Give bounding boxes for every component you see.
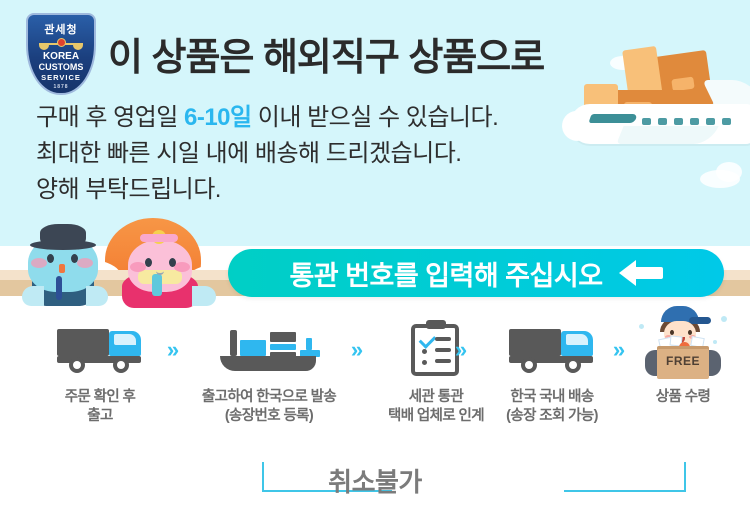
cancel-not-allowed-label: 취소불가 bbox=[0, 462, 750, 499]
shield-line-1: KOREA bbox=[22, 51, 100, 62]
step-separator-icon: » bbox=[346, 340, 368, 360]
notice-line-3: 양해 부탁드립니다. bbox=[36, 172, 636, 208]
truck-icon bbox=[478, 318, 626, 380]
shield-korean-label: 관세청 bbox=[22, 21, 100, 37]
container-ship-icon bbox=[186, 318, 352, 380]
process-step-2: 출고하여 한국으로 발송 (송장번호 등록) bbox=[186, 318, 352, 426]
step-2-label-line1: 출고하여 한국으로 발송 bbox=[186, 388, 352, 407]
delivery-person-icon: FREE bbox=[628, 318, 738, 380]
korea-customs-shield-icon: 관세청 KOREA CUSTOMS SERVICE 1878 bbox=[22, 11, 100, 99]
shield-line-2: CUSTOMS bbox=[22, 62, 100, 72]
shield-year: 1878 bbox=[22, 84, 100, 90]
step-separator-icon: » bbox=[608, 340, 630, 360]
truck-icon bbox=[36, 318, 164, 380]
notice-body-text: 구매 후 영업일 6-10일 이내 받으실 수 있습니다. 최대한 빠른 시일 … bbox=[36, 100, 636, 208]
process-step-1: 주문 확인 후 출고 bbox=[36, 318, 164, 426]
step-1-label-line1: 주문 확인 후 bbox=[36, 388, 164, 407]
step-separator-icon: » bbox=[162, 340, 184, 360]
scales-icon bbox=[39, 38, 83, 50]
notice-line-1: 구매 후 영업일 6-10일 이내 받으실 수 있습니다. bbox=[36, 100, 636, 136]
customs-number-cta-banner[interactable]: 통관 번호를 입력해 주십시오 bbox=[228, 249, 724, 297]
step-1-label-line2: 출고 bbox=[36, 407, 164, 426]
step-separator-icon: » bbox=[450, 340, 472, 360]
mascot-male-hanbok bbox=[16, 224, 112, 306]
overseas-purchase-notice-banner: 관세청 KOREA CUSTOMS SERVICE 1878 이 상품은 해외직… bbox=[0, 0, 750, 512]
step-5-label-line1: 상품 수령 bbox=[628, 388, 738, 407]
notice-line-2: 최대한 빠른 시일 내에 배송해 드리겠습니다. bbox=[36, 136, 636, 172]
footer-notice: 취소불가 bbox=[0, 460, 750, 512]
parcel-free-label: FREE bbox=[657, 354, 709, 368]
process-step-5: FREE 상품 수령 bbox=[628, 318, 738, 407]
left-arrow-icon bbox=[619, 260, 663, 286]
notice-line-1-post: 이내 받으실 수 있습니다. bbox=[252, 104, 499, 131]
step-4-label-line2: (송장 조회 가능) bbox=[478, 407, 626, 426]
shipping-process-steps: 주문 확인 후 출고 » 출고하여 한국으로 발송 (송장번호 등록) bbox=[0, 318, 750, 458]
process-step-4: 한국 국내 배송 (송장 조회 가능) bbox=[478, 318, 626, 426]
notice-line-1-pre: 구매 후 영업일 bbox=[36, 104, 184, 131]
delivery-days-highlight: 6-10일 bbox=[184, 104, 252, 131]
page-title: 이 상품은 해외직구 상품으로 bbox=[108, 26, 608, 81]
cta-label: 통관 번호를 입력해 주십시오 bbox=[289, 254, 602, 293]
step-4-label-line1: 한국 국내 배송 bbox=[478, 388, 626, 407]
step-2-label-line2: (송장번호 등록) bbox=[186, 407, 352, 426]
mascot-female-hanbok bbox=[112, 226, 212, 306]
shield-line-3: SERVICE bbox=[22, 73, 100, 82]
